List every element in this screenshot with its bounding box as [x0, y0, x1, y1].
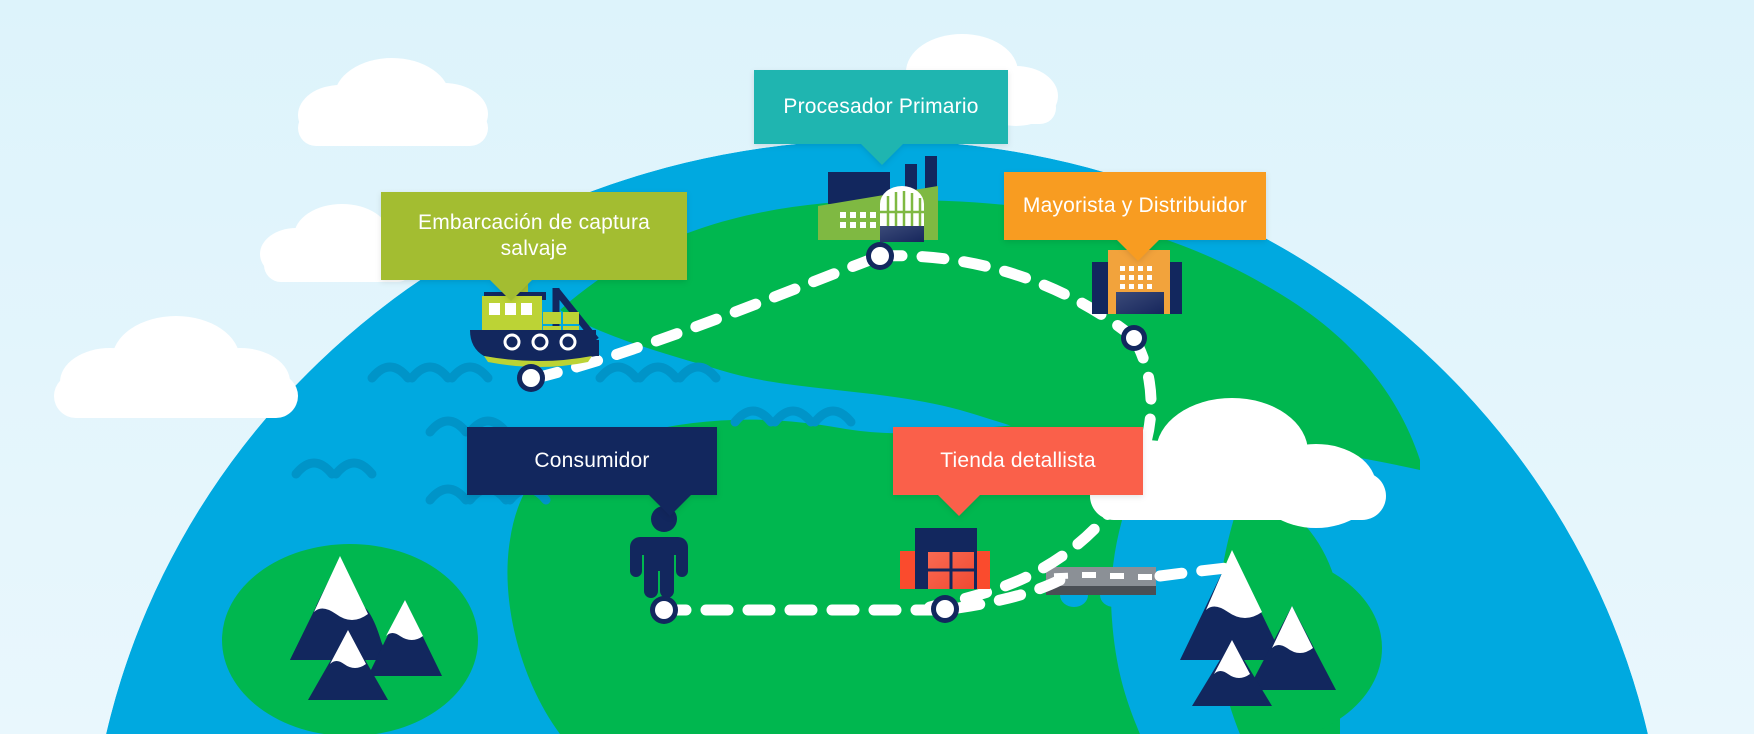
- callout-tail-embarcacion: [489, 279, 533, 301]
- node-marker-consumer: [650, 596, 678, 624]
- factory-arched-window: [880, 186, 924, 226]
- node-label-procesador[interactable]: Procesador Primario: [754, 70, 1008, 144]
- warehouse-door: [1116, 292, 1164, 314]
- node-label-embarcacion[interactable]: Embarcación de captura salvaje: [381, 192, 687, 280]
- callout-tail-consumidor: [648, 494, 692, 516]
- node-label-consumidor-text: Consumidor: [534, 448, 649, 474]
- node-label-consumidor[interactable]: Consumidor: [467, 427, 717, 495]
- callout-tail-mayorista: [1116, 239, 1160, 261]
- node-label-tienda-text: Tienda detallista: [940, 448, 1096, 474]
- callout-tail-procesador: [860, 143, 904, 165]
- node-label-procesador-text: Procesador Primario: [783, 94, 978, 120]
- node-marker-store: [931, 595, 959, 623]
- node-marker-factory: [866, 242, 894, 270]
- node-label-tienda[interactable]: Tienda detallista: [893, 427, 1143, 495]
- node-marker-boat: [517, 364, 545, 392]
- factory-door: [880, 226, 924, 242]
- infographic-canvas: Embarcación de captura salvaje Procesado…: [0, 0, 1754, 734]
- node-marker-warehouse: [1121, 325, 1147, 351]
- node-label-embarcacion-text: Embarcación de captura salvaje: [399, 210, 669, 263]
- callout-tail-tienda: [937, 494, 981, 516]
- node-label-mayorista[interactable]: Mayorista y Distribuidor: [1004, 172, 1266, 240]
- node-label-mayorista-text: Mayorista y Distribuidor: [1023, 193, 1247, 219]
